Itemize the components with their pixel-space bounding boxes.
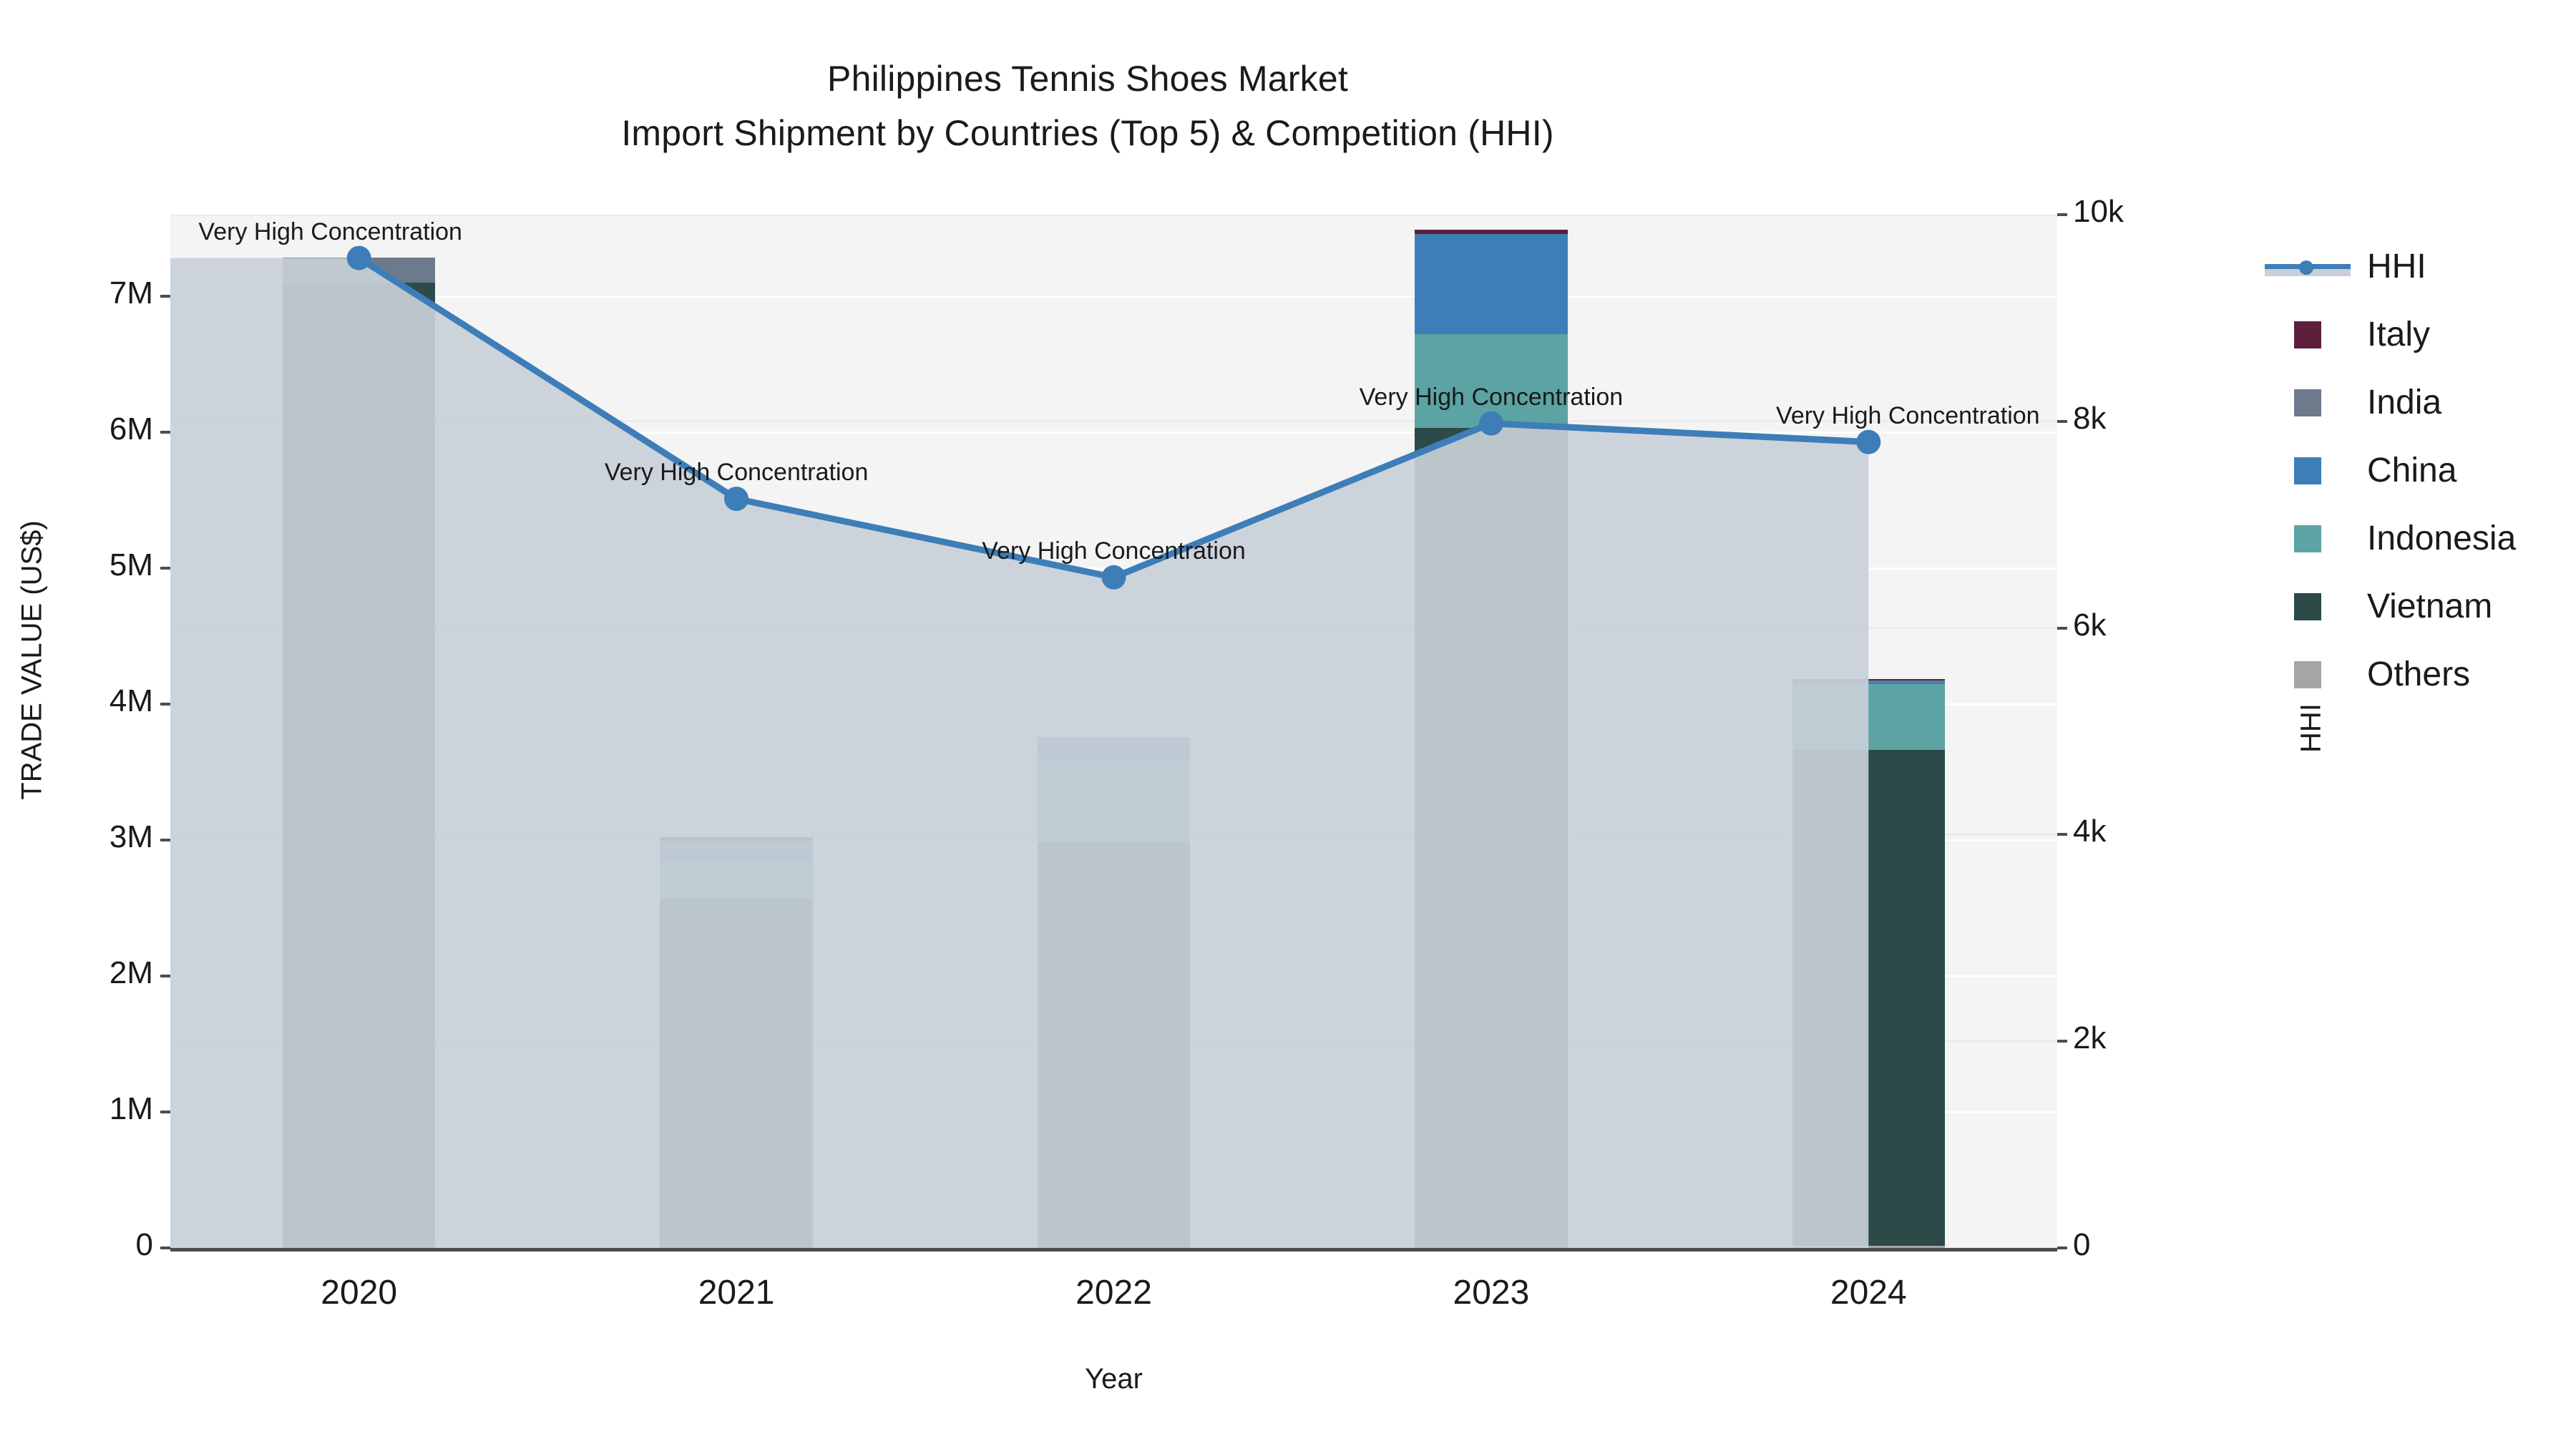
y-axis-left-tick — [160, 839, 170, 841]
y-axis-left-tick-label: 7M — [10, 275, 153, 311]
y-axis-left-tick-label: 4M — [10, 683, 153, 719]
legend-color-swatch — [2294, 389, 2321, 416]
legend-label: China — [2367, 451, 2457, 490]
y-axis-right-tick — [2057, 213, 2067, 216]
y-axis-right-tick-label: 10k — [2073, 194, 2216, 230]
legend-color-swatch — [2294, 593, 2321, 620]
legend-item-hhi[interactable]: HHI — [2261, 233, 2569, 301]
chart-title-line-1: Philippines Tennis Shoes Market — [0, 52, 2175, 106]
legend-color-swatch — [2294, 321, 2321, 348]
y-axis-right-tick-label: 6k — [2073, 608, 2216, 643]
legend-swatch-wrap — [2261, 593, 2354, 620]
y-axis-left-tick — [160, 703, 170, 706]
legend-swatch-wrap — [2261, 389, 2354, 416]
bar-segment-china[interactable] — [1038, 747, 1191, 757]
legend-item-vietnam[interactable]: Vietnam — [2261, 572, 2569, 640]
concentration-annotation: Very High Concentration — [1360, 384, 1624, 411]
bar-segment-china[interactable] — [1415, 234, 1568, 335]
legend-swatch-wrap — [2261, 457, 2354, 484]
legend-swatch-wrap — [2261, 256, 2354, 278]
legend-swatch-wrap — [2261, 321, 2354, 348]
y-axis-right-tick — [2057, 1040, 2067, 1043]
legend-item-others[interactable]: Others — [2261, 640, 2569, 708]
y-axis-right-tick-label: 4k — [2073, 814, 2216, 849]
legend-item-india[interactable]: India — [2261, 369, 2569, 436]
y-axis-left-tick — [160, 567, 170, 570]
bar-segment-indonesia[interactable] — [1792, 684, 1946, 749]
stacked-bar[interactable] — [283, 215, 436, 1248]
legend-color-swatch — [2294, 457, 2321, 484]
bar-group[interactable] — [1415, 215, 1568, 1248]
bar-segment-vietnam[interactable] — [1415, 428, 1568, 1248]
bar-segment-vietnam[interactable] — [283, 283, 436, 1248]
chart-title: Philippines Tennis Shoes Market Import S… — [0, 52, 2175, 160]
bar-group[interactable] — [1792, 215, 1946, 1248]
concentration-annotation: Very High Concentration — [198, 218, 462, 246]
y-axis-right-tick — [2057, 833, 2067, 836]
y-axis-left-tick — [160, 1246, 170, 1249]
x-axis-tick-label: 2022 — [1007, 1273, 1221, 1312]
bar-group[interactable] — [283, 215, 436, 1248]
bar-group[interactable] — [1038, 215, 1191, 1248]
y-axis-left-tick-label: 2M — [10, 955, 153, 991]
bar-segment-italy[interactable] — [1415, 230, 1568, 234]
bar-segment-indonesia[interactable] — [660, 859, 813, 899]
y-axis-left-tick — [160, 431, 170, 434]
y-axis-left-tick — [160, 975, 170, 977]
y-axis-left-tick-label: 3M — [10, 819, 153, 855]
x-axis-tick-label: 2020 — [252, 1273, 467, 1312]
stacked-bar[interactable] — [1038, 215, 1191, 1248]
legend-label: Italy — [2367, 315, 2430, 354]
legend-label: Indonesia — [2367, 519, 2516, 558]
bar-segment-vietnam[interactable] — [1038, 843, 1191, 1248]
bar-segment-vietnam[interactable] — [660, 899, 813, 1248]
chart-legend: HHIItalyIndiaChinaIndonesiaVietnamOthers — [2261, 233, 2569, 708]
plot-area: Very High ConcentrationVery High Concent… — [170, 215, 2057, 1248]
bar-segment-china[interactable] — [660, 851, 813, 859]
stacked-bar[interactable] — [1792, 215, 1946, 1248]
y-axis-left-tick-label: 6M — [10, 411, 153, 447]
concentration-annotation: Very High Concentration — [605, 459, 869, 487]
stacked-bar[interactable] — [1415, 215, 1568, 1248]
y-axis-left-title: TRADE VALUE (US$) — [16, 374, 49, 947]
chart-figure: Philippines Tennis Shoes Market Import S… — [0, 0, 2576, 1449]
y-axis-right-tick-label: 0 — [2073, 1227, 2216, 1263]
x-axis-title: Year — [170, 1363, 2057, 1395]
y-axis-right-tick-label: 2k — [2073, 1020, 2216, 1056]
bar-segment-vietnam[interactable] — [1792, 750, 1946, 1246]
x-axis-spine — [170, 1248, 2057, 1252]
y-axis-right-tick-label: 8k — [2073, 401, 2216, 436]
chart-title-line-2: Import Shipment by Countries (Top 5) & C… — [0, 106, 2175, 160]
x-axis-tick-label: 2021 — [629, 1273, 844, 1312]
bar-segment-india[interactable] — [1792, 680, 1946, 682]
plot-clip — [170, 215, 2057, 1248]
bar-group[interactable] — [660, 215, 813, 1248]
legend-line-dot — [2299, 260, 2313, 275]
legend-label: HHI — [2367, 247, 2426, 286]
legend-item-china[interactable]: China — [2261, 436, 2569, 504]
y-axis-right-tick — [2057, 1246, 2067, 1249]
x-axis-tick-label: 2024 — [1761, 1273, 1976, 1312]
y-axis-left-tick — [160, 1111, 170, 1113]
x-axis-tick-label: 2023 — [1384, 1273, 1599, 1312]
legend-swatch-wrap — [2261, 661, 2354, 688]
legend-label: India — [2367, 383, 2441, 422]
bar-segment-china[interactable] — [1792, 682, 1946, 685]
bar-segment-india[interactable] — [660, 841, 813, 851]
bar-segment-india[interactable] — [283, 258, 436, 283]
legend-line-icon — [2265, 256, 2351, 278]
bar-segment-india[interactable] — [1038, 737, 1191, 747]
legend-color-swatch — [2294, 661, 2321, 688]
y-axis-left-tick-label: 1M — [10, 1091, 153, 1127]
legend-label: Others — [2367, 655, 2470, 694]
stacked-bar[interactable] — [660, 215, 813, 1248]
legend-label: Vietnam — [2367, 587, 2492, 626]
legend-color-swatch — [2294, 525, 2321, 552]
y-axis-left-tick-label: 0 — [10, 1227, 153, 1263]
bar-segment-indonesia[interactable] — [1415, 334, 1568, 428]
concentration-annotation: Very High Concentration — [982, 537, 1246, 565]
bar-segment-italy[interactable] — [1792, 679, 1946, 680]
concentration-annotation: Very High Concentration — [1776, 402, 2040, 430]
y-axis-left-tick — [160, 295, 170, 298]
y-axis-left-tick-label: 5M — [10, 547, 153, 583]
y-axis-right-tick — [2057, 627, 2067, 630]
y-axis-right-tick — [2057, 420, 2067, 423]
legend-swatch-wrap — [2261, 525, 2354, 552]
legend-item-indonesia[interactable]: Indonesia — [2261, 504, 2569, 572]
bar-segment-indonesia[interactable] — [1038, 757, 1191, 843]
legend-item-italy[interactable]: Italy — [2261, 301, 2569, 369]
bar-segment-italy[interactable] — [660, 837, 813, 841]
